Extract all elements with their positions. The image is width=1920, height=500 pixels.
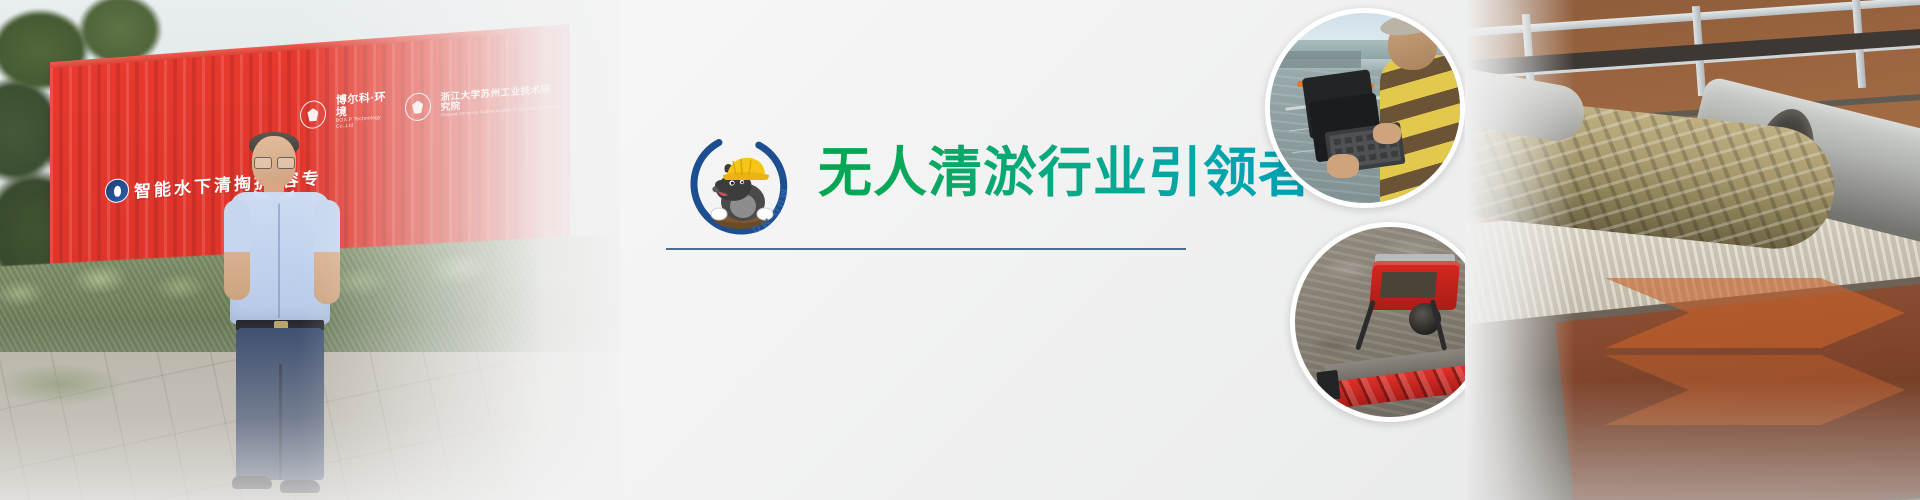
left-container-photo: 博尔科·环境 BOX.P Technology Co.,Ltd 浙江大学苏州工业… [0,0,620,500]
person-left-arm [224,200,250,300]
banner-headline-text: 无人清淤行业引领者 [818,128,1313,207]
hero-banner: 博尔科·环境 BOX.P Technology Co.,Ltd 浙江大学苏州工业… [0,0,1920,500]
operator-control-console-photo [1265,8,1465,208]
slogan-badge-icon [105,178,129,204]
headline-divider [666,248,1186,250]
orange-buoy [1297,81,1310,87]
banner-headline: 无人清淤行业引领者 [818,136,1313,198]
eyeglasses-icon [254,157,295,167]
operator-right-hand [1373,123,1402,144]
right-photo-bottom-fade [1465,380,1920,500]
sludge-discharge-pipe-photo [1465,0,1920,500]
auger-drive-box [1316,370,1340,401]
orange-buoy [1361,83,1374,89]
orange-buoy [1327,76,1340,82]
center-content: MUD MOLE 无人清淤行业引领者 [660,0,1220,500]
robot-red-hull [1369,261,1461,310]
mud-mole-logo: MUD MOLE [685,128,797,240]
plant-building [1274,51,1361,68]
left-photo-edge-fade [300,0,620,500]
dredging-robot-photo [1290,222,1490,422]
mud-mole-logo-icon: MUD MOLE [685,128,797,240]
operator-left-hand [1327,154,1359,179]
